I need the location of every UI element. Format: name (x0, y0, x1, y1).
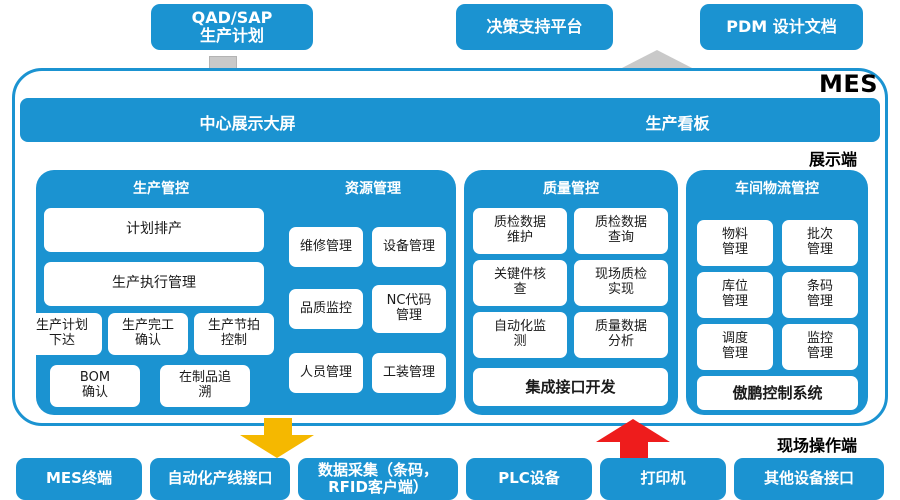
device-auto-line-interface[interactable]: 自动化产线接口 (150, 458, 290, 500)
chip-completion-confirm[interactable]: 生产完工 确认 (108, 313, 188, 355)
chip-equipment-management[interactable]: 设备管理 (372, 227, 446, 267)
device-plc[interactable]: PLC设备 (466, 458, 592, 500)
mes-title: MES (819, 70, 878, 98)
chip-production-execution[interactable]: 生产执行管理 (44, 262, 264, 306)
chip-aopeng-control-system[interactable]: 傲鹏控制系统 (697, 376, 858, 410)
panel-title-production-control: 生产管控 (36, 178, 286, 198)
top-system-pdm-label: PDM 设计文档 (726, 18, 837, 36)
chip-material-management[interactable]: 物料 管理 (697, 220, 773, 266)
chip-quality-data-analysis[interactable]: 质量数据 分析 (574, 312, 668, 358)
chip-plan-release[interactable]: 生产计划 下达 (22, 313, 102, 355)
panel-title-resource-management: 资源管理 (290, 178, 456, 198)
chip-dispatch-management[interactable]: 调度 管理 (697, 324, 773, 370)
chip-integration-interface-dev[interactable]: 集成接口开发 (473, 368, 668, 406)
chip-key-part-check[interactable]: 关键件核 查 (473, 260, 567, 306)
device-data-collection[interactable]: 数据采集（条码， RFID客户端） (298, 458, 458, 500)
chip-wip-trace[interactable]: 在制品追 溯 (160, 365, 250, 407)
chip-onsite-inspection[interactable]: 现场质检 实现 (574, 260, 668, 306)
mes-architecture-diagram: QAD/SAP 生产计划 决策支持平台 PDM 设计文档 MES 中心展示大屏 … (0, 0, 900, 500)
chip-monitor-management[interactable]: 监控 管理 (782, 324, 858, 370)
chip-batch-management[interactable]: 批次 管理 (782, 220, 858, 266)
chip-nc-code-management[interactable]: NC代码 管理 (372, 285, 446, 333)
device-data-collection-line1: 数据采集（条码， (318, 462, 438, 479)
display-bar-center-screen[interactable]: 中心展示大屏 (20, 110, 475, 134)
chip-maintenance-management[interactable]: 维修管理 (289, 227, 363, 267)
top-system-qad-sap[interactable]: QAD/SAP 生产计划 (151, 4, 313, 50)
chip-location-management[interactable]: 库位 管理 (697, 272, 773, 318)
panel-title-quality-control: 质量管控 (464, 178, 678, 198)
device-plc-label: PLC设备 (498, 470, 560, 487)
top-system-qad-sap-line1: QAD/SAP (192, 9, 273, 27)
chip-automated-monitoring[interactable]: 自动化监 测 (473, 312, 567, 358)
device-data-collection-line2: RFID客户端） (318, 479, 438, 496)
tier-label-display: 展示端 (809, 146, 857, 170)
device-mes-terminal-label: MES终端 (46, 470, 112, 487)
top-system-decision-platform[interactable]: 决策支持平台 (456, 4, 613, 50)
chip-takt-control[interactable]: 生产节拍 控制 (194, 313, 274, 355)
chip-qc-data-query[interactable]: 质检数据 查询 (574, 208, 668, 254)
top-system-pdm[interactable]: PDM 设计文档 (700, 4, 863, 50)
display-bar: 中心展示大屏 生产看板 (20, 98, 880, 142)
display-bar-production-board[interactable]: 生产看板 (475, 110, 880, 134)
top-system-decision-platform-label: 决策支持平台 (486, 18, 582, 36)
device-printer-label: 打印机 (640, 470, 685, 487)
chip-tooling-management[interactable]: 工装管理 (372, 353, 446, 393)
chip-barcode-management[interactable]: 条码 管理 (782, 272, 858, 318)
top-system-qad-sap-line2: 生产计划 (192, 27, 273, 45)
chip-bom-confirm[interactable]: BOM 确认 (50, 365, 140, 407)
chip-personnel-management[interactable]: 人员管理 (289, 353, 363, 393)
chip-quality-monitoring[interactable]: 品质监控 (289, 289, 363, 329)
device-auto-line-interface-label: 自动化产线接口 (167, 470, 272, 487)
panel-title-workshop-logistics: 车间物流管控 (686, 178, 868, 198)
device-printer[interactable]: 打印机 (600, 458, 726, 500)
chip-plan-scheduling[interactable]: 计划排产 (44, 208, 264, 252)
dispatch-down-arrow (240, 418, 316, 458)
device-other-interface[interactable]: 其他设备接口 (734, 458, 884, 500)
tier-label-shopfloor: 现场操作端 (777, 432, 857, 456)
device-other-interface-label: 其他设备接口 (764, 470, 854, 487)
chip-qc-data-maintenance[interactable]: 质检数据 维护 (473, 208, 567, 254)
device-mes-terminal[interactable]: MES终端 (16, 458, 142, 500)
collect-up-arrow (596, 419, 672, 458)
